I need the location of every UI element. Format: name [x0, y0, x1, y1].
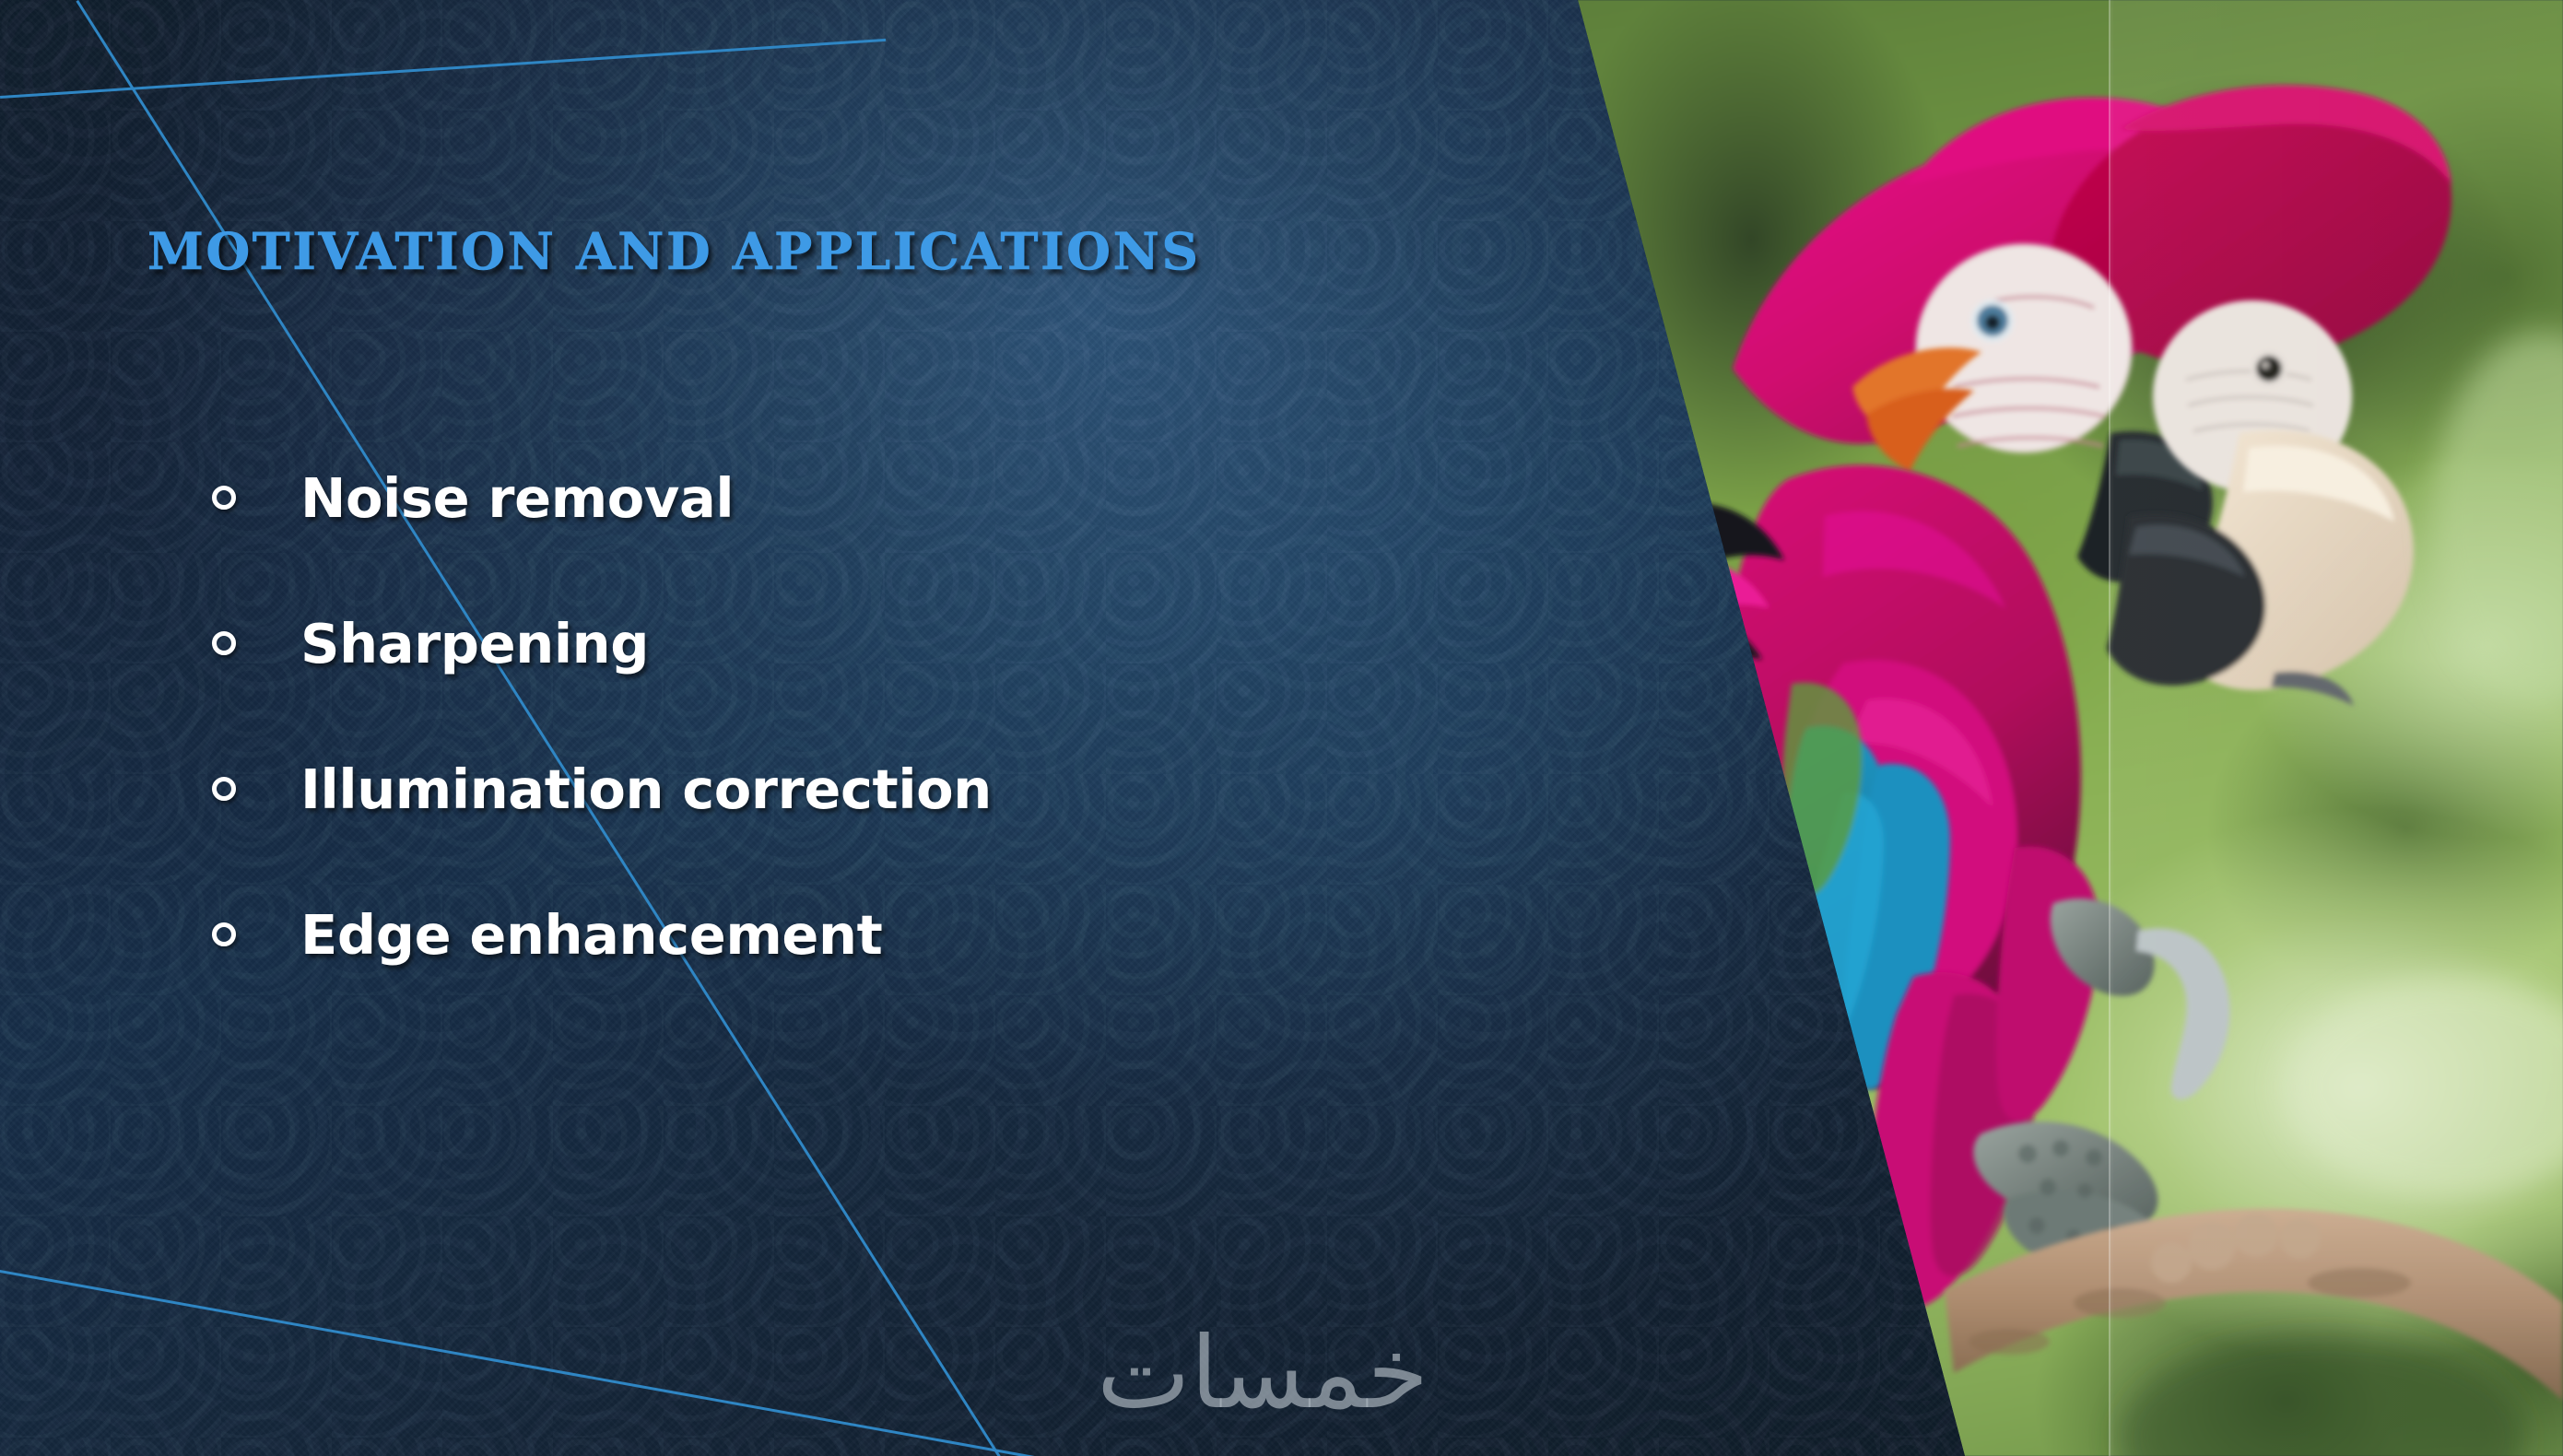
hollow-circle-icon — [212, 777, 236, 801]
presentation-slide: MOTIVATION AND APPLICATIONS Noise remova… — [0, 0, 2563, 1456]
bullet-list: Noise removal Sharpening Illumination co… — [212, 453, 1410, 1036]
hollow-circle-icon — [212, 631, 236, 655]
hollow-circle-icon — [212, 486, 236, 510]
list-item: Noise removal — [212, 453, 1410, 542]
list-item: Sharpening — [212, 599, 1410, 687]
watermark-text: خمسات — [1097, 1316, 1428, 1431]
list-item: Edge enhancement — [212, 890, 1410, 979]
photo-seam-divider — [2109, 0, 2110, 1456]
list-item: Illumination correction — [212, 745, 1410, 833]
slide-title: MOTIVATION AND APPLICATIONS — [147, 221, 1201, 281]
bullet-label: Illumination correction — [300, 757, 992, 821]
bullet-label: Noise removal — [300, 466, 734, 530]
hollow-circle-icon — [212, 922, 236, 946]
bullet-label: Edge enhancement — [300, 903, 882, 967]
bullet-label: Sharpening — [300, 612, 649, 675]
